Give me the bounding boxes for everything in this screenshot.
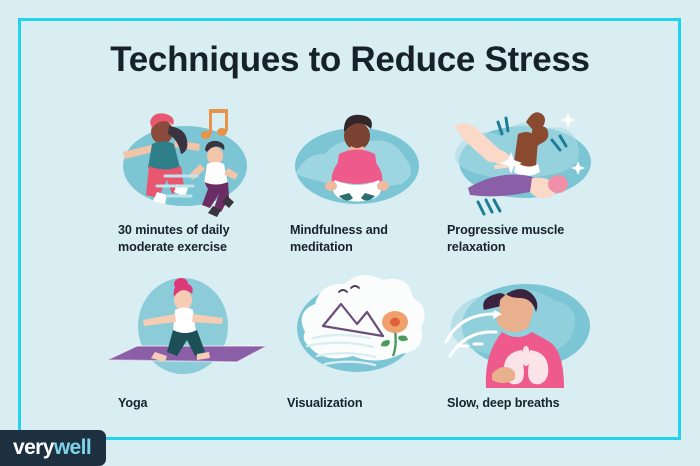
technique-caption: Visualization <box>287 395 447 412</box>
arms-and-leg-stretching-icon <box>440 104 610 224</box>
seated-meditation-lotus-icon <box>277 104 437 224</box>
technique-caption: Progressive muscle relaxation <box>447 222 597 255</box>
infographic-canvas: Techniques to Reduce Stress <box>0 0 700 466</box>
technique-card-yoga: Yoga <box>105 270 265 393</box>
logo-very: very <box>13 436 54 459</box>
warrior-pose-on-mat-icon <box>105 270 265 393</box>
verywell-logo: verywell <box>0 430 106 466</box>
techniques-grid: 30 minutes of daily moderate exercise <box>0 100 700 420</box>
technique-card-mindfulness: Mindfulness and meditation <box>277 104 437 224</box>
technique-caption: Mindfulness and meditation <box>290 222 440 255</box>
technique-card-exercise: 30 minutes of daily moderate exercise <box>105 104 265 224</box>
logo-well: well <box>54 436 91 459</box>
page-title: Techniques to Reduce Stress <box>0 40 700 80</box>
person-breathing-lungs-icon <box>440 270 610 393</box>
technique-card-muscle-relaxation: Progressive muscle relaxation <box>440 104 610 224</box>
technique-caption: 30 minutes of daily moderate exercise <box>118 222 268 255</box>
technique-card-breathing: Slow, deep breaths <box>440 270 610 393</box>
logo-wordmark: verywell <box>13 436 91 460</box>
technique-caption: Yoga <box>118 395 278 412</box>
mountain-landscape-cloud-icon <box>277 270 437 393</box>
technique-caption: Slow, deep breaths <box>447 395 607 412</box>
technique-card-visualization: Visualization <box>277 270 437 393</box>
running-people-with-music-note-icon <box>105 104 265 224</box>
